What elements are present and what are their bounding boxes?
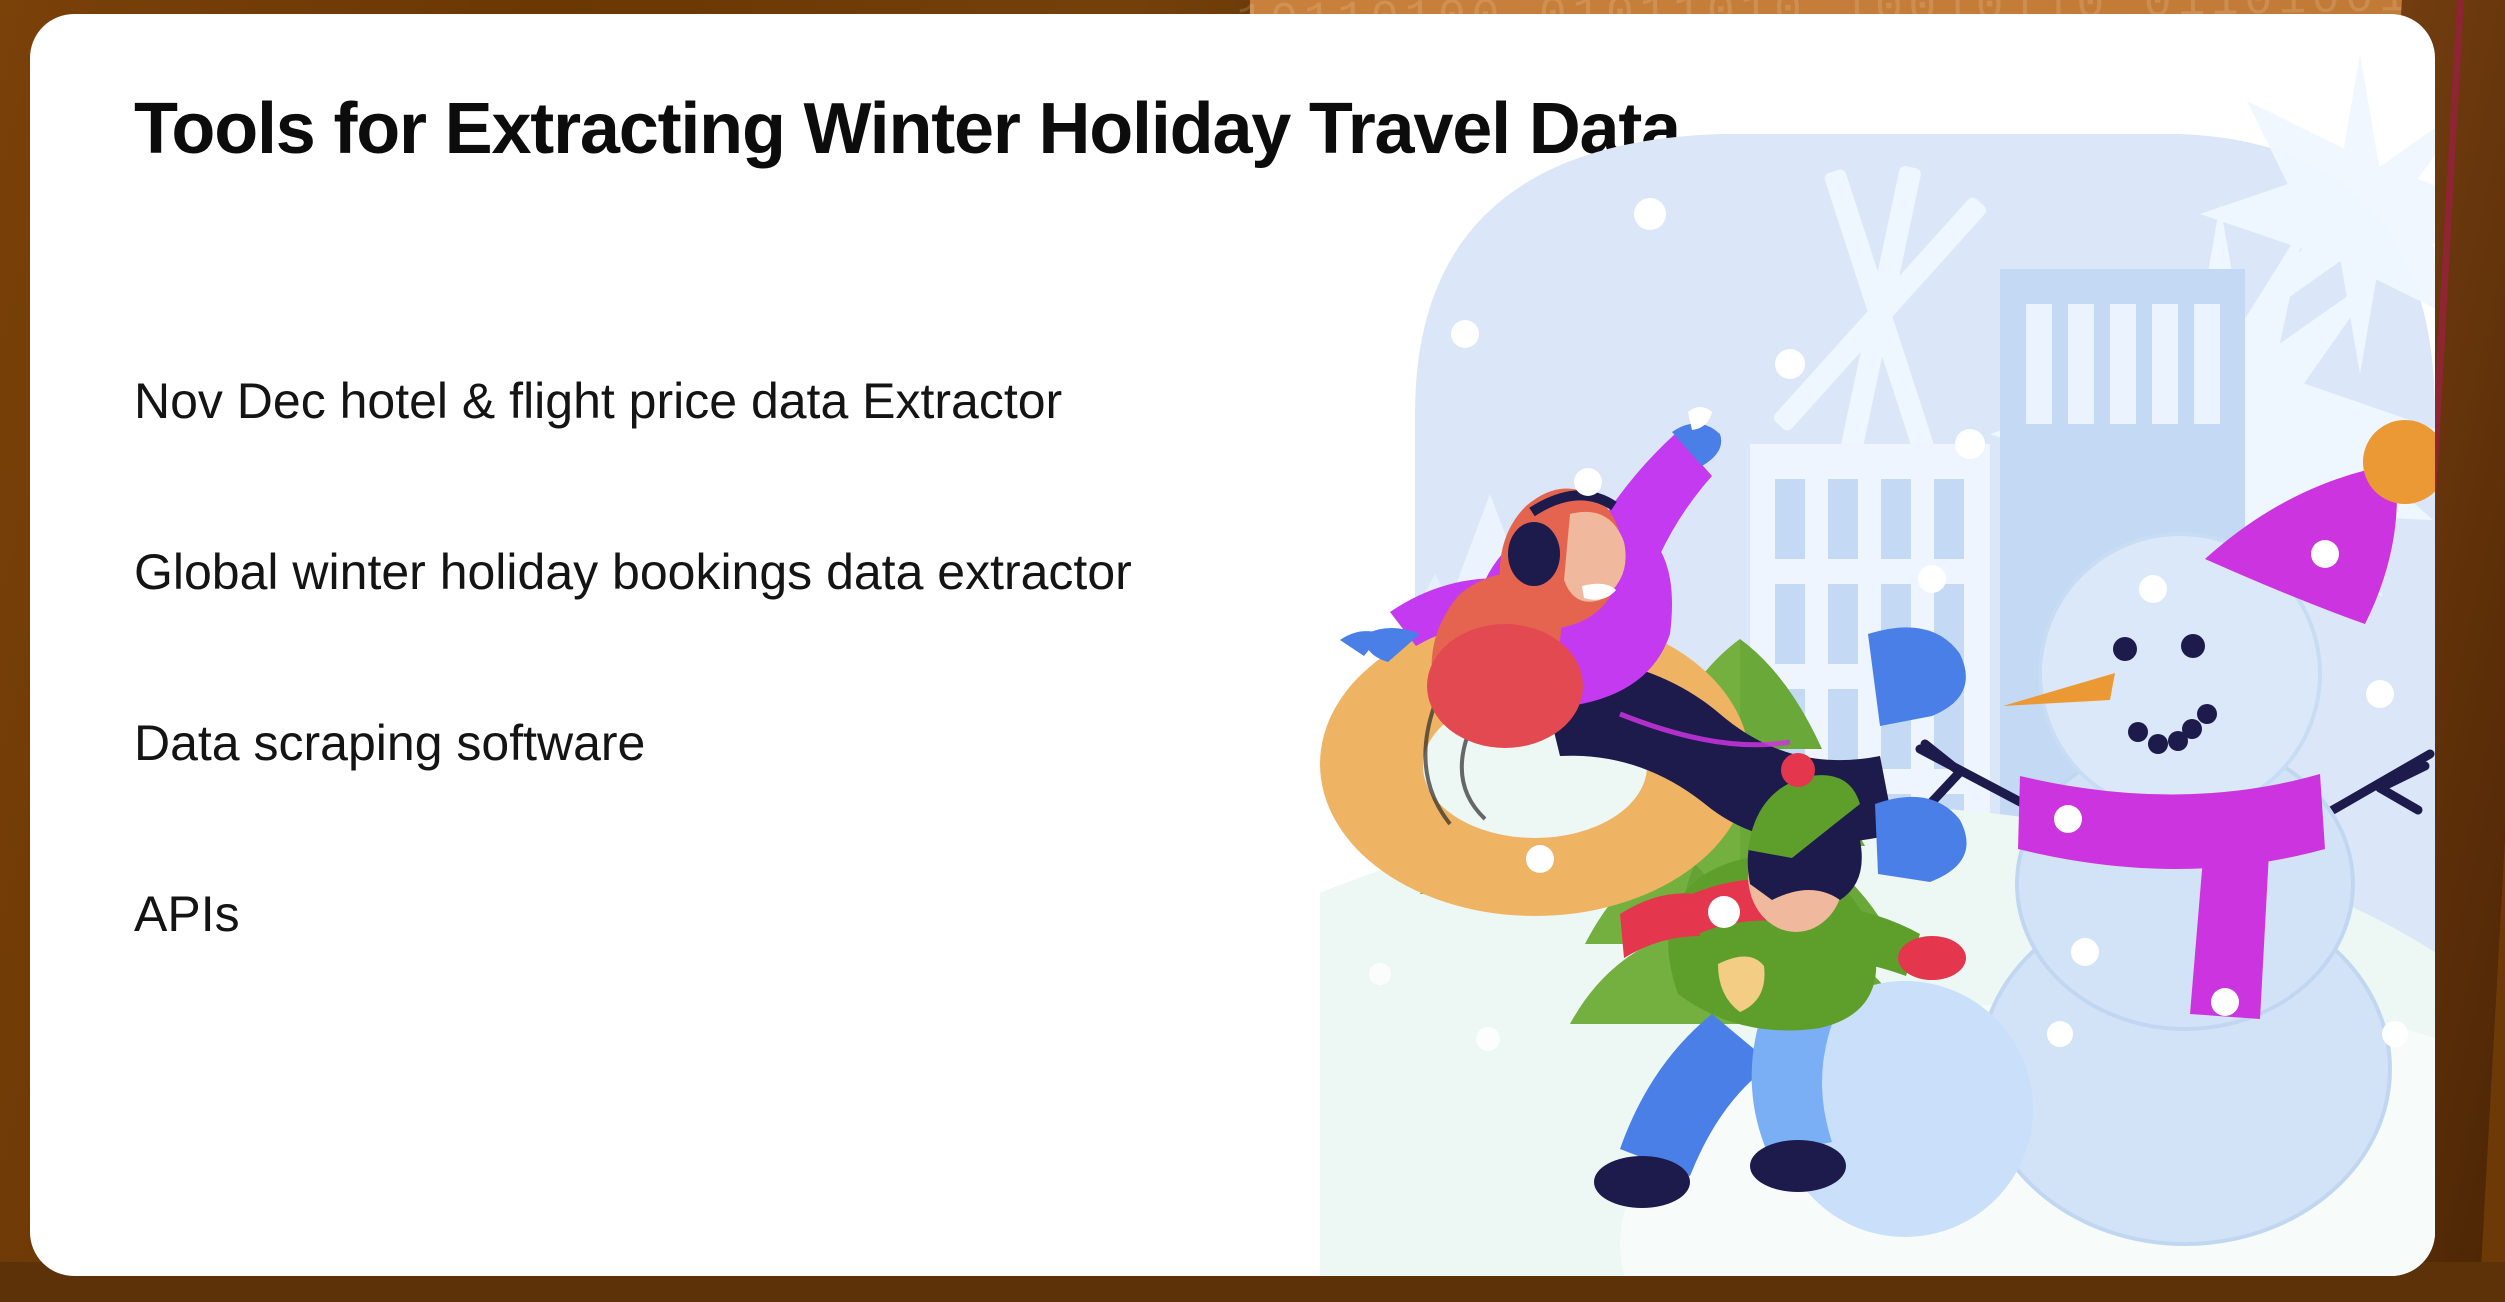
slide-background: 10110100 01011010 10010110 01101001 1010… bbox=[0, 0, 2505, 1302]
child-leg-front bbox=[1752, 1019, 1832, 1154]
child-boot-front bbox=[1750, 1140, 1846, 1192]
child-mitten bbox=[1898, 936, 1966, 980]
tools-list: Nov Dec hotel & flight price data Extrac… bbox=[134, 374, 1454, 942]
beanie-pom bbox=[1781, 753, 1815, 787]
earmuff-cup bbox=[1508, 522, 1560, 586]
list-item: Global winter holiday bookings data extr… bbox=[134, 545, 1454, 600]
list-item: Data scraping software bbox=[134, 716, 1454, 771]
list-item: Nov Dec hotel & flight price data Extrac… bbox=[134, 374, 1454, 429]
child-boot-back bbox=[1594, 1156, 1690, 1208]
slide-card: Tools for Extracting Winter Holiday Trav… bbox=[30, 14, 2435, 1276]
list-item: APIs bbox=[134, 887, 1454, 942]
winter-scene-illustration bbox=[1320, 14, 2435, 1276]
